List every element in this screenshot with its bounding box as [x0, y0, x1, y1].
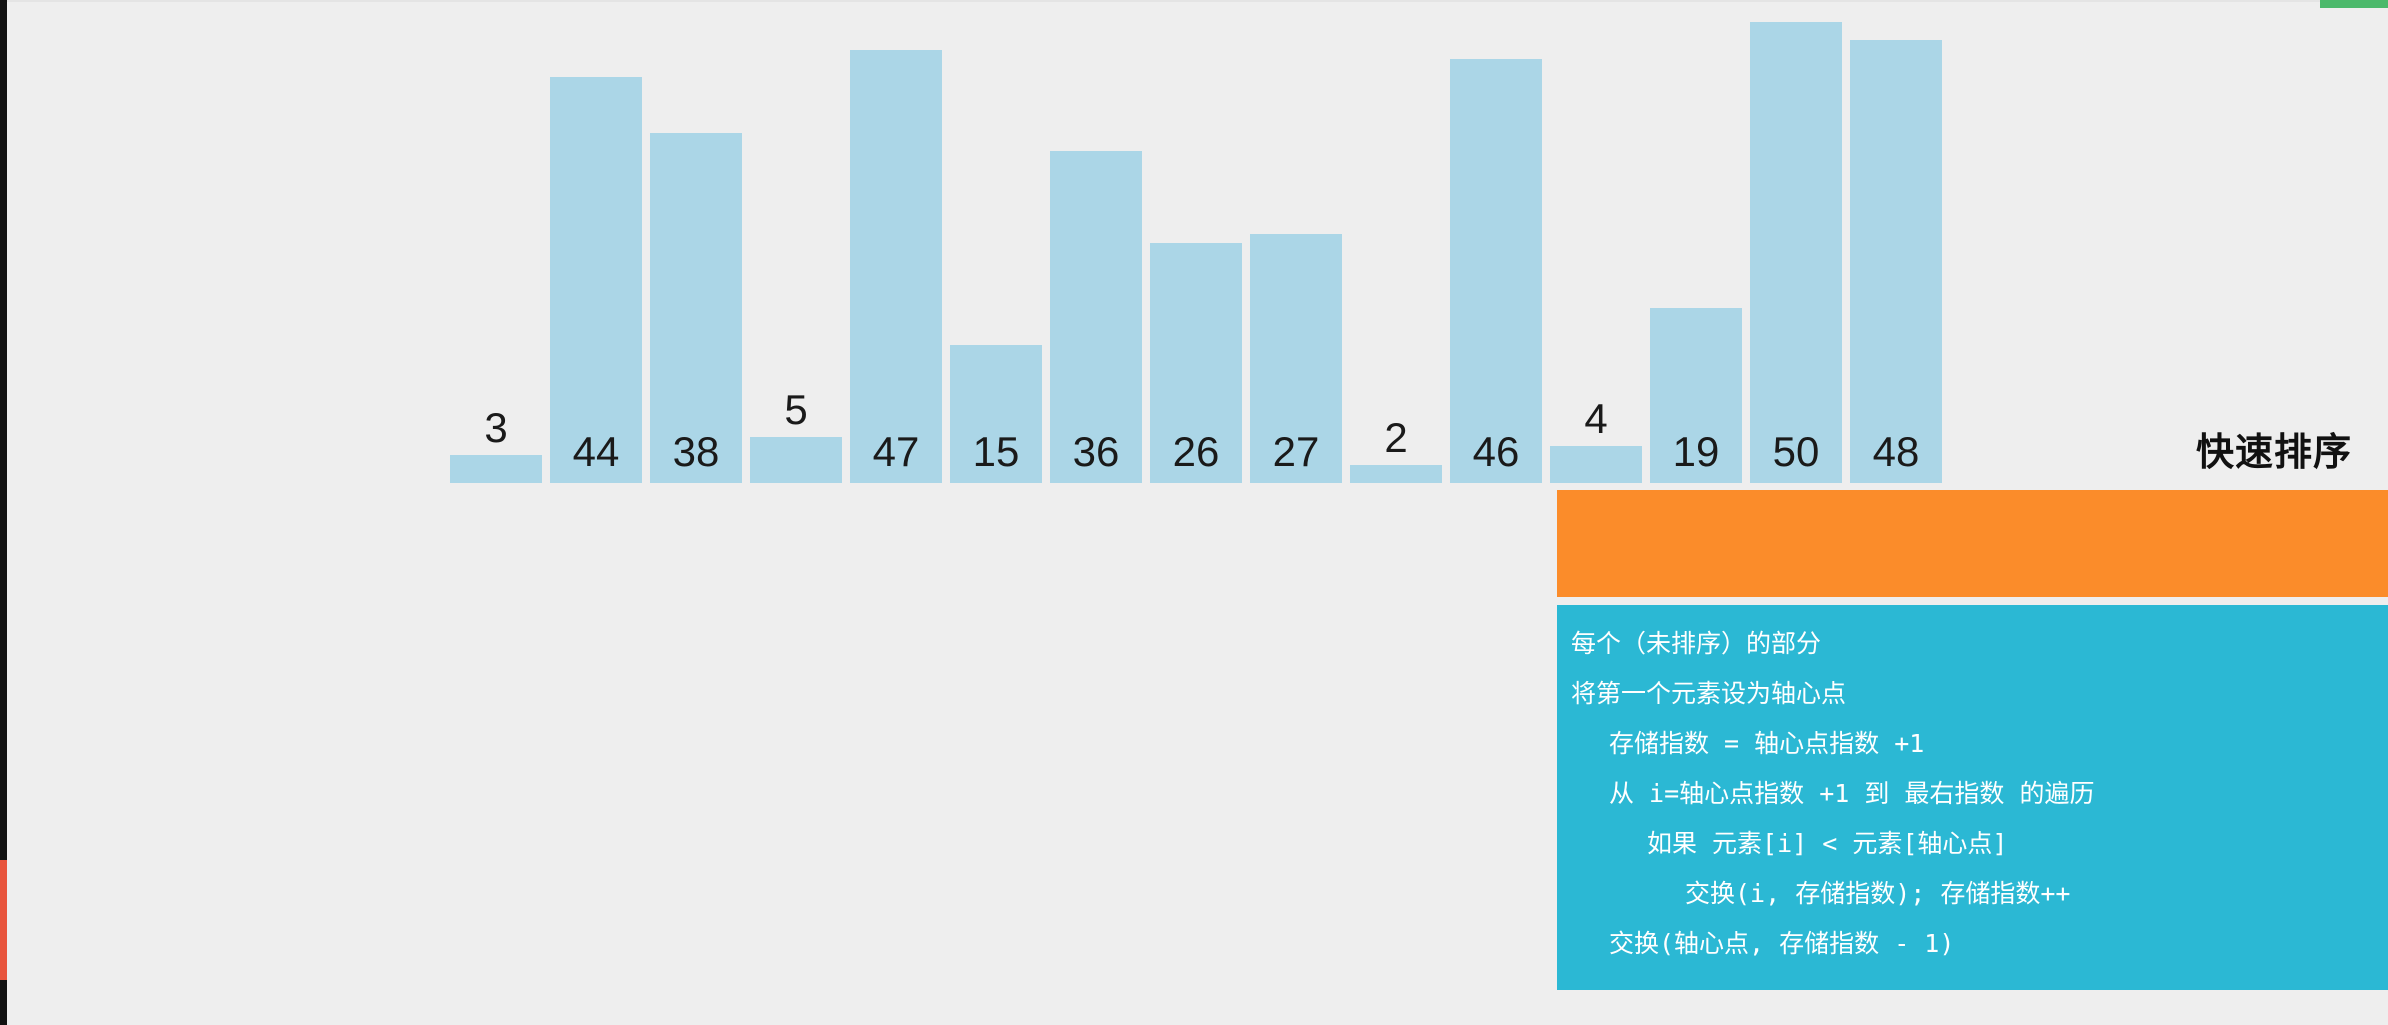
screen-root: 34438547153626272464195048 快速排序 每个（未排序）的…: [0, 0, 2388, 1025]
bar-rect: [450, 455, 542, 483]
bar-rect: [550, 77, 642, 483]
bar-rect: [1450, 59, 1542, 483]
bar-value-label: 47: [850, 431, 942, 473]
bar-item: 4: [1550, 446, 1642, 483]
bar-value-label: 4: [1550, 398, 1642, 440]
pseudocode-line: 交换(轴心点, 存储指数 - 1): [1557, 919, 2388, 969]
bar-value-label: 2: [1350, 417, 1442, 459]
pseudocode-line: 如果 元素[i] < 元素[轴心点]: [1557, 819, 2388, 869]
bar-item: 15: [950, 345, 1042, 483]
bar-item: 26: [1150, 243, 1242, 483]
bar-rect: [1350, 465, 1442, 483]
bar-value-label: 38: [650, 431, 742, 473]
bar-item: 47: [850, 50, 942, 483]
pseudocode-line: 从 i=轴心点指数 +1 到 最右指数 的遍历: [1557, 769, 2388, 819]
bar-rect: [1750, 22, 1842, 483]
bar-rect: [850, 50, 942, 483]
bar-item: 48: [1850, 40, 1942, 483]
bar-item: 19: [1650, 308, 1742, 483]
pseudocode-line: 将第一个元素设为轴心点: [1557, 669, 2388, 719]
bar-rect: [1550, 446, 1642, 483]
bar-item: 50: [1750, 22, 1842, 483]
bar-value-label: 26: [1150, 431, 1242, 473]
left-progress-indicator[interactable]: [0, 860, 7, 980]
pseudocode-line: 交换(i, 存储指数); 存储指数++: [1557, 869, 2388, 919]
bar-item: 46: [1450, 59, 1542, 483]
bar-value-label: 36: [1050, 431, 1142, 473]
bar-item: 44: [550, 77, 642, 483]
bar-value-label: 15: [950, 431, 1042, 473]
bar-chart: 34438547153626272464195048: [0, 0, 2388, 490]
bar-item: 36: [1050, 151, 1142, 483]
bar-item: 27: [1250, 234, 1342, 483]
bar-value-label: 19: [1650, 431, 1742, 473]
pseudocode-line: 每个（未排序）的部分: [1557, 619, 2388, 669]
bar-value-label: 48: [1850, 431, 1942, 473]
bar-item: 3: [450, 455, 542, 483]
bar-value-label: 27: [1250, 431, 1342, 473]
bar-value-label: 5: [750, 389, 842, 431]
bar-value-label: 3: [450, 407, 542, 449]
bar-rect: [750, 437, 842, 483]
status-panel: [1557, 490, 2388, 597]
bar-item: 2: [1350, 465, 1442, 483]
page-title: 快速排序: [2196, 421, 2352, 476]
bar-value-label: 50: [1750, 431, 1842, 473]
bar-item: 5: [750, 437, 842, 483]
bar-rect: [1850, 40, 1942, 483]
bar-item: 38: [650, 133, 742, 483]
pseudocode-panel: 每个（未排序）的部分将第一个元素设为轴心点存储指数 = 轴心点指数 +1从 i=…: [1557, 605, 2388, 990]
bar-value-label: 46: [1450, 431, 1542, 473]
pseudocode-line: 存储指数 = 轴心点指数 +1: [1557, 719, 2388, 769]
bar-value-label: 44: [550, 431, 642, 473]
